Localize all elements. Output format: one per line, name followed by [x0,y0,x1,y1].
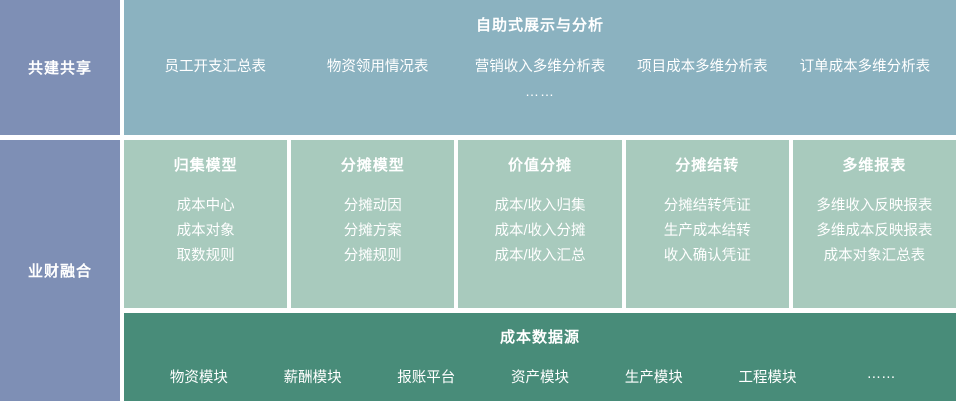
model-item-production-cost-carryover[interactable]: 生产成本结转 [664,219,751,244]
analysis-item-marketing-revenue[interactable]: 营销收入多维分析表 [459,55,621,76]
model-item-revenue-recognition-voucher[interactable]: 收入确认凭证 [664,244,751,269]
cost-management-architecture-diagram: 共建共享 业财融合 自助式展示与分析 员工开支汇总表 物资领用情况表 营销收入多… [0,0,956,401]
model-column-value-allocation[interactable]: 价值分摊 成本/收入归集 成本/收入分摊 成本/收入汇总 [458,140,621,308]
analysis-item-project-cost[interactable]: 项目成本多维分析表 [621,55,783,76]
model-item-multidim-cost-report[interactable]: 多维成本反映报表 [816,219,932,244]
source-item-reimbursement-platform[interactable]: 报账平台 [369,366,483,387]
source-item-engineering-module[interactable]: 工程模块 [711,366,825,387]
model-item-allocation-driver[interactable]: 分摊动因 [344,194,402,219]
model-item-cost-revenue-collection[interactable]: 成本/收入归集 [494,194,585,219]
model-item-cost-object[interactable]: 成本对象 [177,219,235,244]
model-column-title: 分摊结转 [675,154,739,175]
analysis-item-employee-expense[interactable]: 员工开支汇总表 [134,55,296,76]
source-item-ellipsis: …… [824,366,938,387]
model-item-allocation-plan[interactable]: 分摊方案 [344,219,402,244]
models-row: 归集模型 成本中心 成本对象 取数规则 分摊模型 分摊动因 分摊方案 分摊规则 … [124,140,956,308]
source-item-asset-module[interactable]: 资产模块 [483,366,597,387]
analysis-item-material-requisition[interactable]: 物资领用情况表 [296,55,458,76]
source-item-payroll-module[interactable]: 薪酬模块 [256,366,370,387]
model-item-allocation-rule[interactable]: 分摊规则 [344,244,402,269]
model-column-allocation-model[interactable]: 分摊模型 分摊动因 分摊方案 分摊规则 [291,140,454,308]
rail-label: 业财融合 [28,260,92,281]
panel-self-service-analysis[interactable]: 自助式展示与分析 员工开支汇总表 物资领用情况表 营销收入多维分析表 项目成本多… [124,0,956,135]
model-item-multidim-revenue-report[interactable]: 多维收入反映报表 [816,194,932,219]
model-column-title: 价值分摊 [508,154,572,175]
rail-cell-business-finance-integration[interactable]: 业财融合 [0,140,120,401]
rail-cell-shared-construction[interactable]: 共建共享 [0,0,120,135]
model-column-title: 分摊模型 [341,154,405,175]
model-column-title: 归集模型 [174,154,238,175]
panel-title-analysis: 自助式展示与分析 [476,14,604,35]
model-column-multidimensional-reports[interactable]: 多维报表 多维收入反映报表 多维成本反映报表 成本对象汇总表 [793,140,956,308]
model-item-cost-revenue-summary[interactable]: 成本/收入汇总 [494,244,585,269]
panel-title-source: 成本数据源 [500,326,580,347]
panel-cost-data-source[interactable]: 成本数据源 物资模块 薪酬模块 报账平台 资产模块 生产模块 工程模块 …… [124,313,956,401]
model-item-fetch-rule[interactable]: 取数规则 [177,244,235,269]
model-item-cost-center[interactable]: 成本中心 [177,194,235,219]
layer-rail: 共建共享 业财融合 [0,0,120,401]
model-item-cost-object-summary[interactable]: 成本对象汇总表 [824,244,926,269]
model-item-cost-revenue-allocation[interactable]: 成本/收入分摊 [494,219,585,244]
source-item-list: 物资模块 薪酬模块 报账平台 资产模块 生产模块 工程模块 …… [124,366,956,387]
model-item-carryover-voucher[interactable]: 分摊结转凭证 [664,194,751,219]
analysis-item-list: 员工开支汇总表 物资领用情况表 营销收入多维分析表 项目成本多维分析表 订单成本… [124,55,956,76]
model-column-allocation-carryover[interactable]: 分摊结转 分摊结转凭证 生产成本结转 收入确认凭证 [626,140,789,308]
model-column-title: 多维报表 [842,154,906,175]
analysis-ellipsis: …… [525,83,555,99]
analysis-item-order-cost[interactable]: 订单成本多维分析表 [784,55,946,76]
content-stack: 自助式展示与分析 员工开支汇总表 物资领用情况表 营销收入多维分析表 项目成本多… [120,0,956,401]
rail-label: 共建共享 [28,57,92,78]
source-item-material-module[interactable]: 物资模块 [142,366,256,387]
source-item-production-module[interactable]: 生产模块 [597,366,711,387]
model-column-collection-model[interactable]: 归集模型 成本中心 成本对象 取数规则 [124,140,287,308]
